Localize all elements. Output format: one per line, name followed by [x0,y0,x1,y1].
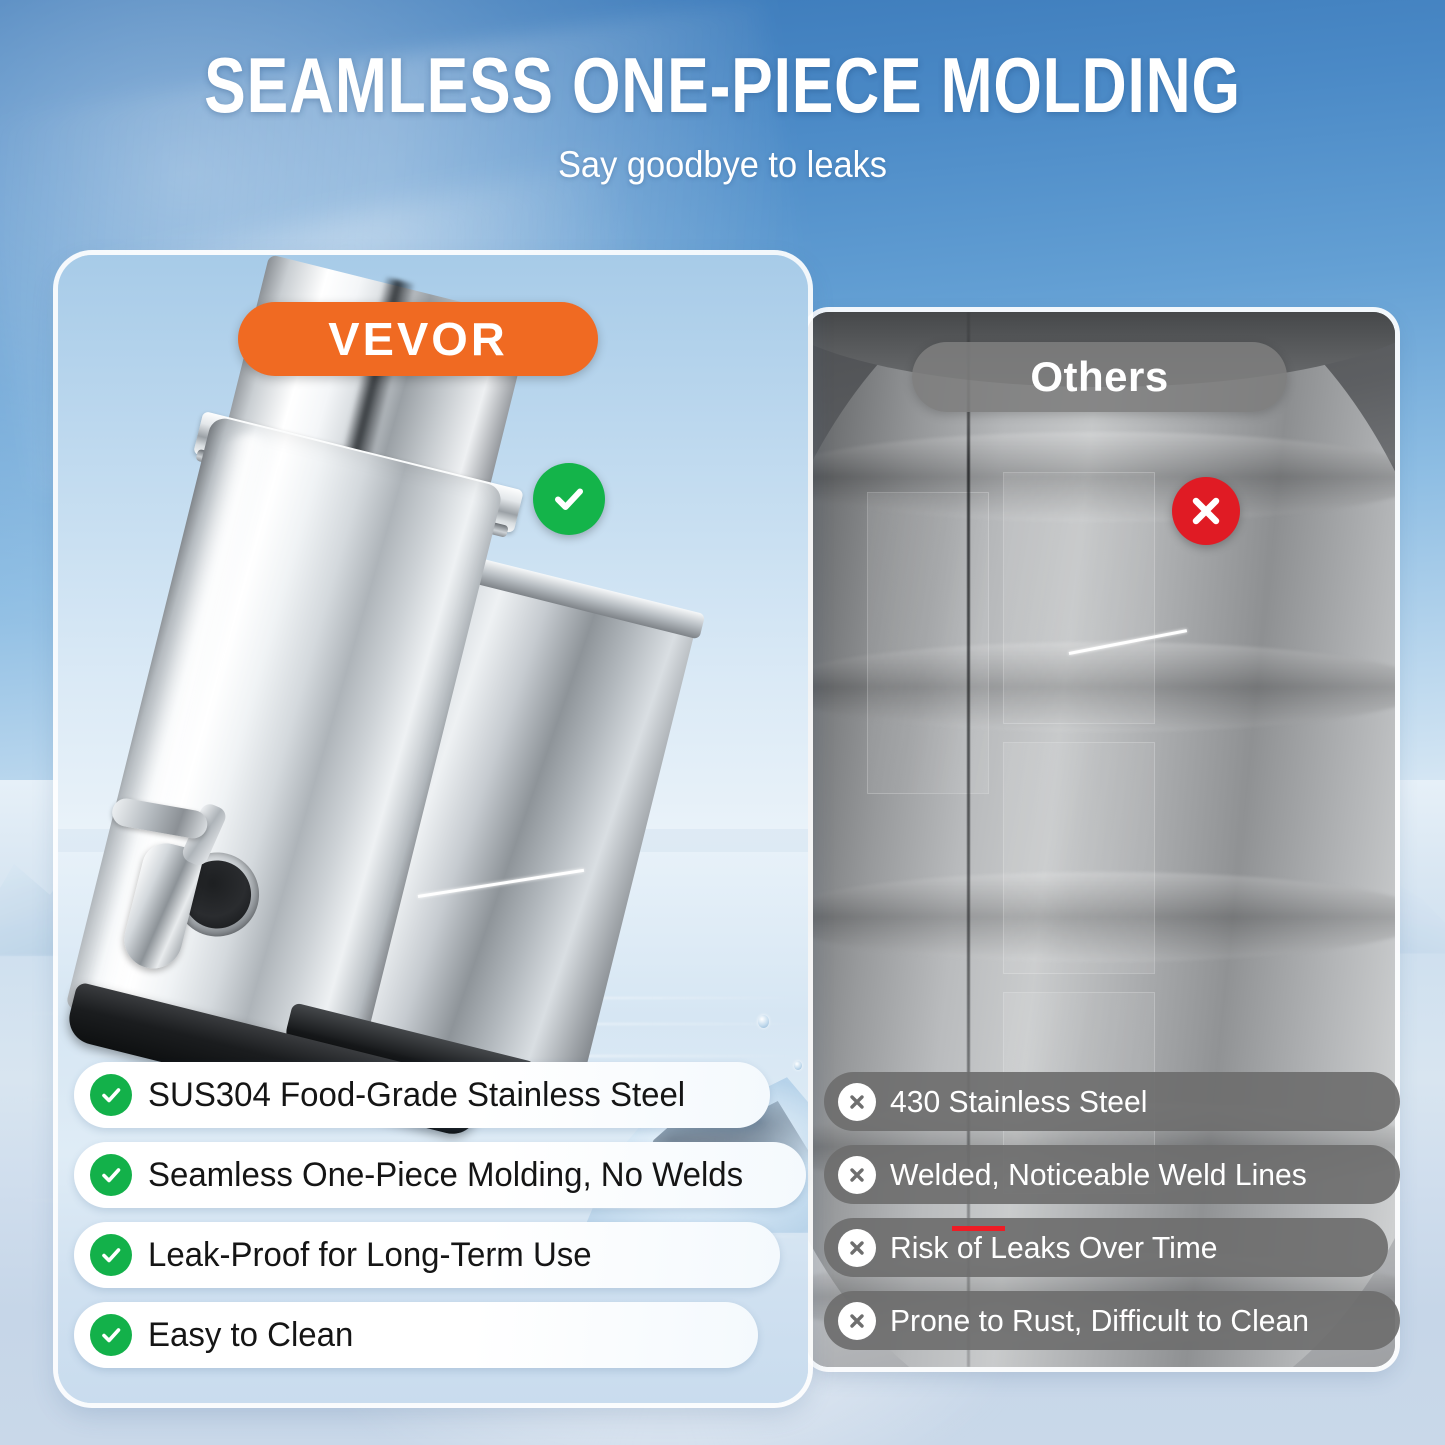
cross-circle-icon [838,1302,876,1340]
page-title: SEAMLESS ONE-PIECE MOLDING [145,0,1301,124]
check-circle-icon [533,463,605,535]
tank-reflection-panel-2 [1003,742,1155,974]
page-subtitle: Say goodbye to leaks [51,124,1395,183]
vevor-brand-badge: VEVOR [238,302,598,376]
feature-label: SUS304 Food-Grade Stainless Steel [148,1076,685,1115]
check-circle-icon [90,1314,132,1356]
list-item: 430 Stainless Steel [824,1072,1400,1131]
check-circle-icon [90,1154,132,1196]
list-item: Welded, Noticeable Weld Lines [824,1145,1400,1204]
water-droplet-2 [794,1061,802,1070]
others-brand-label: Others [1030,353,1168,401]
list-item: Easy to Clean [74,1302,758,1368]
water-droplet-1 [758,1015,769,1028]
cross-circle-icon [838,1083,876,1121]
drawback-label: Risk of Leaks Over Time [890,1230,1218,1266]
drawback-label: Welded, Noticeable Weld Lines [890,1157,1307,1193]
feature-label: Leak-Proof for Long-Term Use [148,1236,592,1275]
check-circle-icon [90,1074,132,1116]
tank-reflection-panel-4 [867,492,989,794]
drawback-label: 430 Stainless Steel [890,1084,1147,1120]
feature-label: Seamless One-Piece Molding, No Welds [148,1156,743,1195]
others-brand-badge: Others [912,342,1287,412]
vevor-feature-list: SUS304 Food-Grade Stainless Steel Seamle… [74,1062,790,1382]
others-feature-list: 430 Stainless Steel Welded, Noticeable W… [824,1072,1386,1364]
feature-label: Easy to Clean [148,1316,353,1355]
list-item: SUS304 Food-Grade Stainless Steel [74,1062,770,1128]
tank-reflection-panel-1 [1003,472,1155,724]
vevor-brand-label: VEVOR [328,312,508,366]
drawback-label: Prone to Rust, Difficult to Clean [890,1303,1309,1339]
cross-circle-icon [838,1156,876,1194]
list-item: Risk of Leaks Over Time [824,1218,1388,1277]
cross-circle-icon [838,1229,876,1267]
check-circle-icon [90,1234,132,1276]
list-item: Seamless One-Piece Molding, No Welds [74,1142,806,1208]
list-item: Prone to Rust, Difficult to Clean [824,1291,1400,1350]
list-item: Leak-Proof for Long-Term Use [74,1222,780,1288]
header: SEAMLESS ONE-PIECE MOLDING Say goodbye t… [0,0,1445,230]
weld-marker-bottom-cap [952,1226,1005,1231]
cross-circle-icon [1172,477,1240,545]
